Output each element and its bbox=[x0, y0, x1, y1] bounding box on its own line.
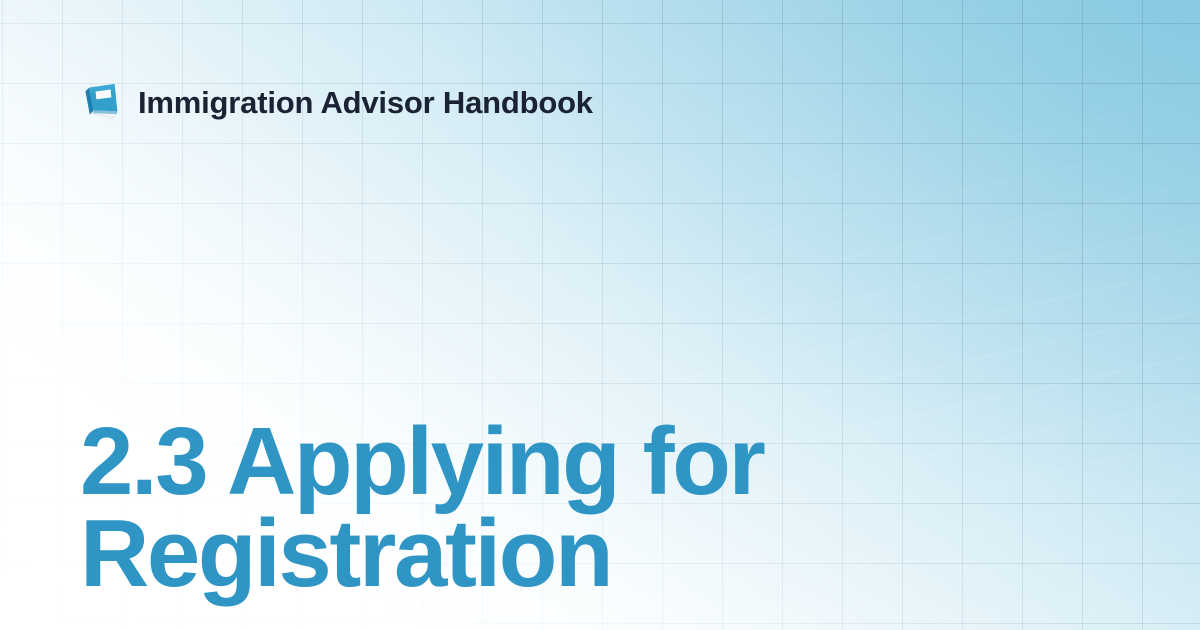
handbook-title: Immigration Advisor Handbook bbox=[138, 87, 593, 118]
card-content: Immigration Advisor Handbook 2.3 Applyin… bbox=[0, 0, 1200, 630]
page-title-line-2: Registration bbox=[80, 508, 820, 600]
blue-book-icon bbox=[80, 81, 122, 123]
page-title-line-1: 2.3 Applying for bbox=[80, 416, 820, 508]
title-card: Immigration Advisor Handbook 2.3 Applyin… bbox=[0, 0, 1200, 630]
page-title: 2.3 Applying for Registration bbox=[80, 416, 820, 600]
header: Immigration Advisor Handbook bbox=[80, 80, 593, 124]
